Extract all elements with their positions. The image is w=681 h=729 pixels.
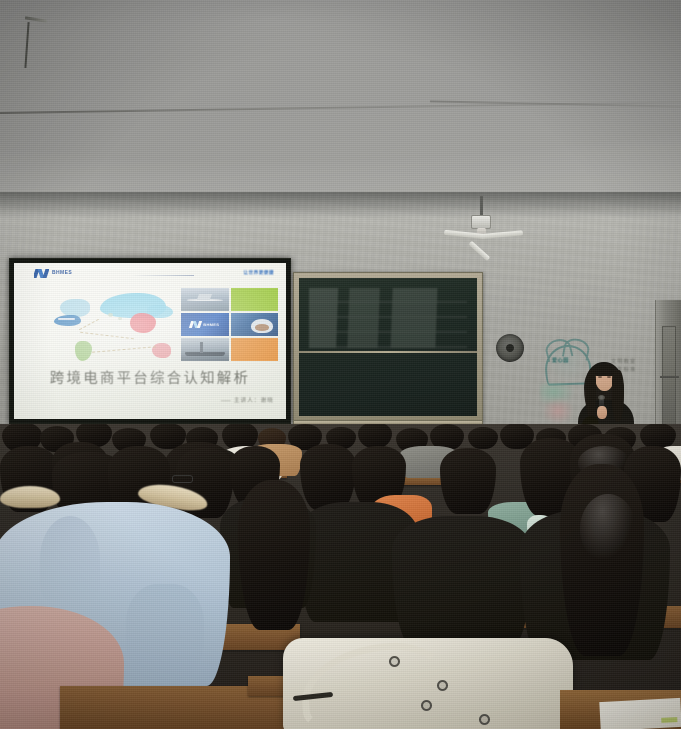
audience-head xyxy=(440,448,496,514)
collage-cargo-ship-photo xyxy=(181,338,229,361)
collage-orange-block xyxy=(231,338,279,361)
ceiling xyxy=(0,0,681,196)
microphone-head xyxy=(598,395,605,400)
heart-poster-text: 爱心园 xyxy=(552,358,569,364)
poster-pink-accent xyxy=(543,398,573,424)
collage-green-block xyxy=(231,288,279,311)
presenter-hand xyxy=(597,406,607,419)
paper-sheet xyxy=(599,698,681,729)
wall-fan-hub xyxy=(506,344,514,352)
collage-airplane-photo xyxy=(181,288,229,311)
audience-long-hair xyxy=(560,464,644,656)
backpack-ring xyxy=(389,656,400,667)
slide-company-logo: BHMES xyxy=(34,269,72,278)
fur-hood-trim xyxy=(0,486,60,508)
slide-subtitle: ——主讲人：谢晓 xyxy=(14,396,274,404)
chevron-logo-icon xyxy=(190,321,201,328)
blackboard-chalk-residue xyxy=(309,288,467,348)
slide-tagline-rule xyxy=(132,275,194,276)
audience-head xyxy=(300,444,356,510)
slide-photo-collage: BHMES xyxy=(181,288,278,361)
blackboard-divider xyxy=(299,351,477,353)
slide-subtitle-dash: —— xyxy=(221,398,230,404)
backpack-strap xyxy=(298,639,453,727)
projection-screen: BHMES 让世界更便捷 xyxy=(9,258,291,424)
slide-title: 跨境电商平台综合认知解析 xyxy=(14,367,286,388)
slide-world-map xyxy=(52,291,182,361)
cream-tote-backpack xyxy=(283,638,573,729)
trade-route-line xyxy=(80,332,134,340)
blackboard-surface xyxy=(299,278,477,416)
ceiling-shading xyxy=(0,0,681,196)
map-region-speck xyxy=(118,317,122,320)
backpack-ring xyxy=(479,714,490,725)
wall-ceiling-shadow xyxy=(0,192,681,218)
projection-screen-surface: BHMES 让世界更便捷 xyxy=(14,263,286,419)
presenter-hair-left xyxy=(586,370,596,420)
wall-mounted-fan-icon xyxy=(496,334,526,368)
slide-subtitle-text: 主讲人：谢晓 xyxy=(234,398,274,404)
map-region-china xyxy=(130,313,156,333)
ceiling-fan-icon xyxy=(476,196,486,228)
paper-sticky-tab xyxy=(661,717,677,723)
blackboard xyxy=(293,272,483,424)
audience-long-hair xyxy=(238,480,310,630)
jacket-hood xyxy=(40,516,100,602)
audience-head xyxy=(468,427,498,449)
backpack-ring xyxy=(421,700,432,711)
eyeglasses xyxy=(172,475,193,483)
trade-route-line xyxy=(79,319,99,330)
collage-logo-block: BHMES xyxy=(181,313,229,336)
collage-logo-text: BHMES xyxy=(203,322,219,327)
backpack-ring xyxy=(437,680,448,691)
audience-head xyxy=(358,424,392,448)
door-crossbar xyxy=(660,376,679,378)
map-region-south-america xyxy=(75,341,92,361)
slide-logo-text: BHMES xyxy=(52,271,72,276)
presenter-hair-right xyxy=(612,370,624,422)
map-region-speck xyxy=(108,313,113,317)
audience-jacket xyxy=(392,516,532,646)
trade-route-line xyxy=(92,346,156,353)
chevron-logo-icon xyxy=(34,269,49,278)
slide-tagline: 让世界更便捷 xyxy=(243,270,274,276)
classroom-photo: BHMES 让世界更便捷 xyxy=(0,0,681,729)
audience-area xyxy=(0,424,681,729)
airplane-icon xyxy=(54,315,81,326)
door-panel xyxy=(662,326,676,438)
jacket-sleeve xyxy=(126,584,204,680)
collage-worker-photo xyxy=(231,313,279,336)
ceiling-fan-motor xyxy=(471,215,491,229)
